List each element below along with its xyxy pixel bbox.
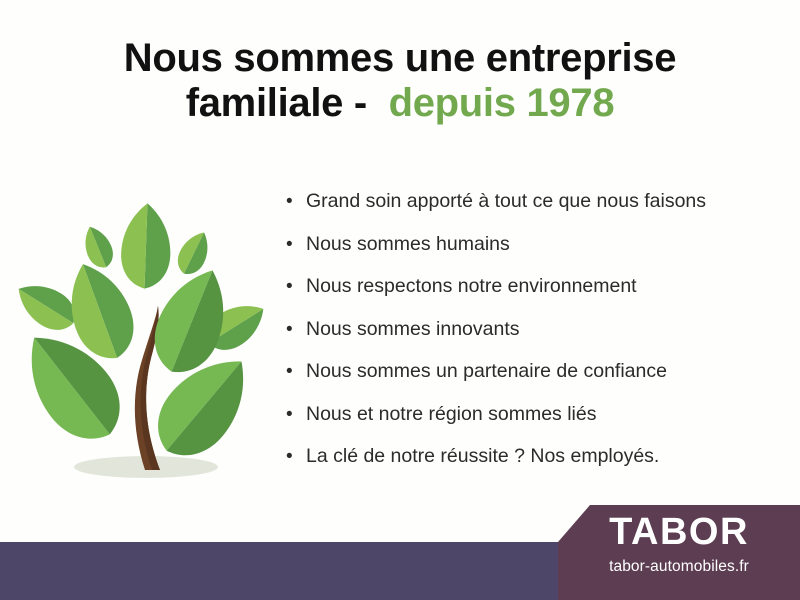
list-item: • Nous sommes humains xyxy=(286,235,766,278)
title-line-2-accent: depuis 1978 xyxy=(389,81,615,125)
bullet-text: Nous sommes un partenaire de confiance xyxy=(306,362,667,382)
tree-icon xyxy=(14,196,276,486)
bullet-marker: • xyxy=(286,405,306,424)
tree-svg xyxy=(14,196,276,486)
list-item: • Nous respectons notre environnement xyxy=(286,277,766,320)
bullet-text: La clé de notre réussite ? Nos employés. xyxy=(306,447,659,467)
slide-canvas: Nous sommes une entreprise familiale - d… xyxy=(0,0,800,600)
title-line-1: Nous sommes une entreprise xyxy=(0,36,800,81)
bullet-text: Nous sommes humains xyxy=(306,235,510,255)
list-item: • Grand soin apporté à tout ce que nous … xyxy=(286,192,766,235)
list-item: • Nous sommes innovants xyxy=(286,320,766,363)
bullet-text: Nous respectons notre environnement xyxy=(306,277,637,297)
bullet-marker: • xyxy=(286,277,306,296)
list-item: • Nous sommes un partenaire de confiance xyxy=(286,362,766,405)
bullet-marker: • xyxy=(286,320,306,339)
tree-leaf xyxy=(120,203,172,290)
brand-wordmark: TABOR xyxy=(558,513,800,551)
list-item: • La clé de notre réussite ? Nos employé… xyxy=(286,447,766,490)
bullet-text: Nous sommes innovants xyxy=(306,320,520,340)
tree-leaf xyxy=(78,222,118,272)
bullet-marker: • xyxy=(286,235,306,254)
title-line-2: familiale - depuis 1978 xyxy=(0,81,800,126)
bullet-marker: • xyxy=(286,447,306,466)
bullet-list: • Grand soin apporté à tout ce que nous … xyxy=(286,192,766,490)
brand-website-url: tabor-automobiles.fr xyxy=(558,559,800,575)
bullet-marker: • xyxy=(286,192,306,211)
brand-logo-panel: TABOR tabor-automobiles.fr xyxy=(558,505,800,600)
bullet-marker: • xyxy=(286,362,306,381)
list-item: • Nous et notre région sommes liés xyxy=(286,405,766,448)
title-line-2-dark: familiale - xyxy=(186,81,389,125)
bullet-text: Nous et notre région sommes liés xyxy=(306,405,596,425)
page-title: Nous sommes une entreprise familiale - d… xyxy=(0,36,800,126)
bullet-text: Grand soin apporté à tout ce que nous fa… xyxy=(306,192,706,212)
